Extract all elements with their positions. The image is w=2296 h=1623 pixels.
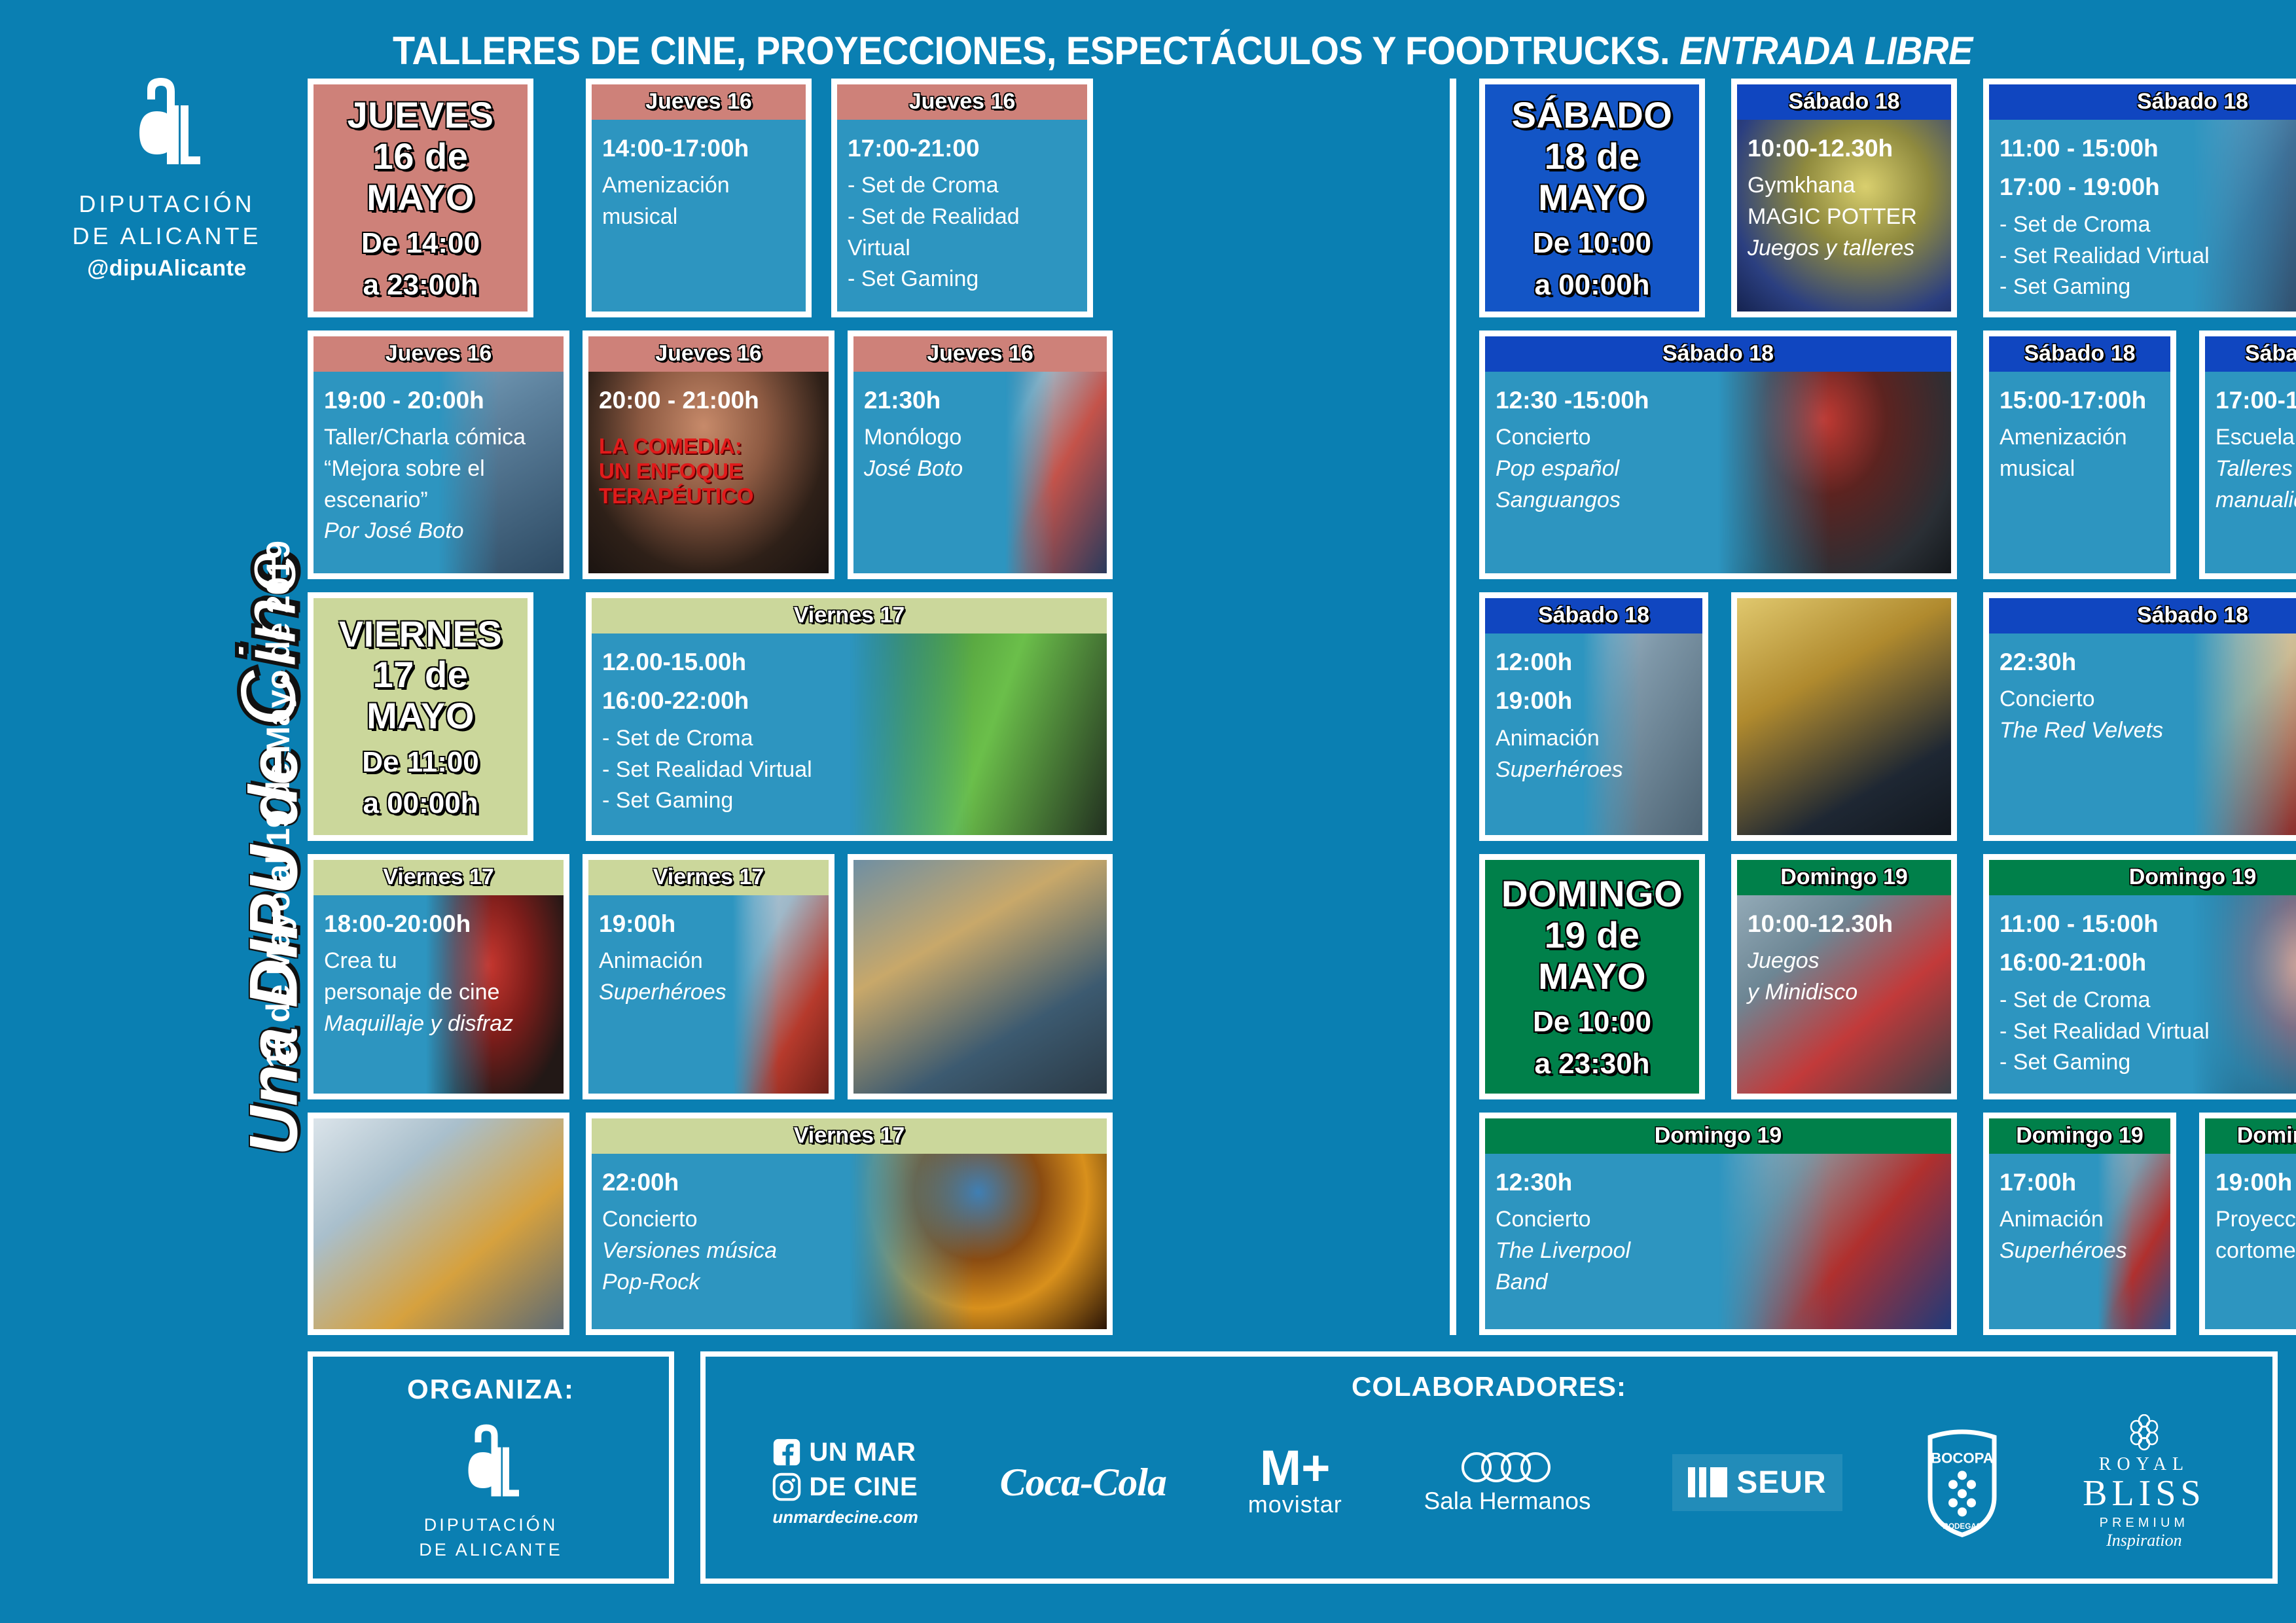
card-inner: Viernes 1718:00-20:00hCrea tupersonaje d…	[314, 860, 564, 1094]
schedule-card-thu-monologo[interactable]: Jueves 1621:30hMonólogoJosé Boto	[848, 330, 1113, 579]
card-subtitle: José Boto	[864, 454, 1096, 485]
card-body: 17:00hAnimaciónSuperhéroes	[1989, 1154, 2170, 1329]
card-line: MAGIC POTTER	[1748, 202, 1941, 233]
card-day-header: Sábado 18	[1989, 84, 2296, 120]
schedule-card-thu-sets[interactable]: Jueves 1617:00-21:00- Set de Croma- Set …	[831, 79, 1093, 317]
card-inner: Viernes 1712.00-15.00h16:00-22:00h- Set …	[592, 598, 1107, 835]
card-body: 12:00h19:00hAnimaciónSuperhéroes	[1485, 633, 1702, 835]
day-close-time: a 00:00h	[319, 787, 522, 819]
card-line: escenario”	[324, 485, 553, 516]
sponsor-movistar: M+ movistar	[1248, 1446, 1342, 1518]
card-day-header: Sábado 18	[1737, 84, 1951, 120]
card-subtitle: Por José Boto	[324, 516, 553, 547]
card-day-header: Sábado 18	[1989, 598, 2296, 633]
card-line: Monólogo	[864, 422, 1096, 454]
foodtruck-eating-photo	[853, 860, 1107, 1094]
card-body: 18:00-20:00hCrea tupersonaje de cineMaqu…	[314, 895, 564, 1094]
card-body: 10:00-12.30hGymkhanaMAGIC POTTERJuegos y…	[1737, 120, 1951, 312]
card-body: 11:00 - 15:00h17:00 - 19:00h- Set de Cro…	[1989, 120, 2296, 312]
card-inner: Viernes 1722:00hConciertoVersiones músic…	[592, 1118, 1107, 1329]
card-line: Virtual	[848, 233, 1077, 264]
facebook-icon	[772, 1438, 801, 1467]
page-title: TALLERES DE CINE, PROYECCIONES, ESPECTÁC…	[393, 31, 2097, 71]
card-time: 14:00-17:00h	[602, 132, 795, 166]
website-url[interactable]: unmardecine.com	[772, 1507, 918, 1527]
schedule-card-fri-foodtruck-photo[interactable]	[848, 854, 1113, 1099]
card-line: Animación	[599, 946, 818, 977]
card-line: cortometrajes	[2215, 1236, 2296, 1267]
card-line: - Set Realidad Virtual	[2000, 1016, 2296, 1048]
card-body: 21:30hMonólogoJosé Boto	[853, 372, 1107, 573]
dipu-alicante-logo-icon	[118, 72, 216, 170]
card-subtitle: Pop español	[1496, 454, 1941, 485]
card-time: 19:00h	[2215, 1166, 2296, 1200]
sponsor-sala-hermanos-label: Sala Hermanos	[1424, 1488, 1591, 1515]
poster-root: TALLERES DE CINE, PROYECCIONES, ESPECTÁC…	[0, 0, 2296, 1623]
sponsor-seur-label: SEUR	[1736, 1465, 1826, 1501]
page-title-main: TALLERES DE CINE, PROYECCIONES, ESPECTÁC…	[393, 29, 1670, 73]
organiza-label: ORGANIZA:	[313, 1374, 669, 1405]
card-line: Amenización	[602, 170, 795, 202]
card-day-header: Jueves 16	[314, 336, 564, 372]
card-body: 22:30hConciertoThe Red Velvets	[1989, 633, 2296, 835]
card-body: 19:00 - 20:00hTaller/Charla cómica“Mejor…	[314, 372, 564, 573]
card-inner: Jueves 1617:00-21:00- Set de Croma- Set …	[837, 84, 1087, 312]
card-line: musical	[602, 202, 795, 233]
schedule-card-sat-animacion[interactable]: Sábado 1812:00h19:00hAnimaciónSuperhéroe…	[1479, 592, 1708, 841]
foodtruck-yellow-photo	[1737, 598, 1951, 835]
facebook-label: UN MAR	[809, 1438, 916, 1467]
sponsor-coca-cola: Coca-Cola	[1000, 1460, 1166, 1505]
card-subtitle: Superhéroes	[1496, 755, 1692, 786]
day-name: JUEVES	[319, 95, 522, 136]
schedule-card-thu-amenizacion[interactable]: Jueves 1614:00-17:00hAmenizaciónmusical	[586, 79, 812, 317]
sponsor-seur: SEUR	[1672, 1454, 1842, 1511]
colaboradores-box: COLABORADORES: UN MAR	[700, 1351, 2278, 1584]
card-line: Gymkhana	[1748, 170, 1941, 202]
card-day-header: Domingo 19	[1989, 860, 2296, 895]
card-day-header: Viernes 17	[592, 598, 1107, 633]
schedule-card-fri-foodtruck-photo2[interactable]	[308, 1113, 569, 1335]
royal-bliss-line3: PREMIUM	[2083, 1516, 2206, 1531]
card-time: 22:30h	[2000, 645, 2296, 679]
card-line: - Set Gaming	[2000, 1047, 2296, 1079]
card-day-header: Jueves 16	[592, 84, 806, 120]
footer: ORGANIZA: DIPUTACIÓN DE ALICANTE COLABOR…	[308, 1351, 2278, 1584]
day-name: SÁBADO	[1490, 95, 1694, 136]
schedule-card-sat-redvelvets[interactable]: Sábado 1822:30hConciertoThe Red Velvets	[1983, 592, 2296, 841]
card-inner: SÁBADO18 de MAYODe 10:00a 00:00h	[1485, 84, 1699, 312]
card-line: - Set de Croma	[2000, 209, 2296, 241]
movistar-mark: M+	[1248, 1446, 1342, 1491]
card-subtitle-2: y Minidisco	[1748, 977, 1941, 1008]
card-body: 17:00-19:00hEscuela de CineTalleres dema…	[2205, 372, 2296, 573]
card-time: 17:00-19:00h	[2215, 383, 2296, 418]
card-line: Crea tu	[324, 946, 553, 977]
card-subtitle: Juegos y talleres	[1748, 233, 1941, 264]
card-line: - Set Gaming	[848, 264, 1077, 295]
card-line: Escuela de Cine	[2215, 422, 2296, 454]
card-highlight-block: LA COMEDIA:UN ENFOQUETERAPÉUTICO	[599, 434, 818, 508]
card-body: 19:00hAnimaciónSuperhéroes	[588, 895, 829, 1094]
card-inner: Jueves 1621:30hMonólogoJosé Boto	[853, 336, 1107, 573]
brand-name-line1: DIPUTACIÓN	[39, 188, 295, 221]
schedule-card-fri-maquillaje[interactable]: Viernes 1718:00-20:00hCrea tupersonaje d…	[308, 854, 569, 1099]
card-day-header: Jueves 16	[588, 336, 829, 372]
card-body: 12.00-15.00h16:00-22:00h- Set de Croma- …	[592, 633, 1107, 835]
day-date: 18 de MAYO	[1490, 136, 1694, 218]
card-subtitle: Talleres de	[2215, 454, 2296, 485]
card-line: Taller/Charla cómica	[324, 422, 553, 454]
card-day-header: Domingo 19	[1737, 860, 1951, 895]
schedule-card-thu-taller[interactable]: Jueves 1619:00 - 20:00hTaller/Charla cóm…	[308, 330, 569, 579]
card-line: personaje de cine	[324, 977, 553, 1008]
four-rings-icon	[1458, 1450, 1556, 1484]
card-body: 19:00hProyeccióncortometrajes	[2205, 1154, 2296, 1329]
day-title-block: SÁBADO18 de MAYODe 10:00a 00:00h	[1485, 95, 1699, 301]
column-divider	[1450, 79, 1456, 1335]
card-day-header: Sábado 18	[1989, 336, 2170, 372]
schedule-card-sat-escuela[interactable]: Sábado 1817:00-19:00hEscuela de CineTall…	[2199, 330, 2296, 579]
card-body: 17:00-21:00- Set de Croma- Set de Realid…	[837, 120, 1087, 312]
card-line: Concierto	[2000, 684, 2296, 715]
day-title-block: JUEVES16 de MAYODe 14:00a 23:00h	[314, 95, 528, 301]
sponsor-movistar-label: movistar	[1248, 1491, 1342, 1518]
schedule-card-fri-day[interactable]: VIERNES17 de MAYODe 11:00a 00:00h	[308, 592, 533, 841]
royal-bliss-line2: BLISS	[2083, 1475, 2206, 1512]
card-time: 17:00h	[2000, 1166, 2160, 1200]
dipu-alicante-logo-icon	[450, 1419, 532, 1501]
card-line: - Set de Croma	[848, 170, 1077, 202]
day-open-time: De 10:00	[1490, 1006, 1694, 1038]
card-inner: Sábado 1817:00-19:00hEscuela de CineTall…	[2205, 336, 2296, 573]
card-day-header: Domingo 19	[2205, 1118, 2296, 1154]
card-day-header: Domingo 19	[1989, 1118, 2170, 1154]
card-time-secondary: 17:00 - 19:00h	[2000, 170, 2296, 204]
card-inner: Viernes 1719:00hAnimaciónSuperhéroes	[588, 860, 829, 1094]
day-close-time: a 00:00h	[1490, 269, 1694, 301]
instagram-link[interactable]: DE CINE	[772, 1472, 918, 1502]
card-line: - Set de Croma	[2000, 985, 2296, 1016]
day-open-time: De 10:00	[1490, 227, 1694, 259]
card-time: 21:30h	[864, 383, 1096, 418]
brand-name-line2: DE ALICANTE	[39, 221, 295, 253]
card-time: 19:00 - 20:00h	[324, 383, 553, 418]
schedule-card-fri-animacion[interactable]: Viernes 1719:00hAnimaciónSuperhéroes	[583, 854, 834, 1099]
card-line: Animación	[1496, 723, 1692, 755]
schedule-card-sat-concierto[interactable]: Sábado 1812:30 -15:00hConciertoPop españ…	[1479, 330, 1957, 579]
sponsor-bocopa: BOCOPA BODEGAS	[1924, 1423, 2001, 1541]
card-inner: JUEVES16 de MAYODe 14:00a 23:00h	[314, 84, 528, 312]
day-open-time: De 14:00	[319, 227, 522, 259]
day-title-block: VIERNES17 de MAYODe 11:00a 00:00h	[314, 614, 528, 820]
instagram-label: DE CINE	[809, 1472, 918, 1502]
card-inner: Domingo 1910:00-12.30hJuegosy Minidisco	[1737, 860, 1951, 1094]
card-inner: Domingo 1911:00 - 15:00h16:00-21:00h- Se…	[1989, 860, 2296, 1094]
card-inner: Sábado 1822:30hConciertoThe Red Velvets	[1989, 598, 2296, 835]
card-inner	[1737, 598, 1951, 835]
schedule-card-sat-foodtruck-photo[interactable]	[1731, 592, 1957, 841]
card-line: Concierto	[1496, 1204, 1941, 1236]
day-date: 19 de MAYO	[1490, 915, 1694, 997]
card-line: - Set Realidad Virtual	[602, 755, 1096, 786]
card-subtitle: The Liverpool	[1496, 1236, 1941, 1267]
day-open-time: De 11:00	[319, 746, 522, 778]
schedule-card-sun-liverpool[interactable]: Domingo 1912:30hConciertoThe LiverpoolBa…	[1479, 1113, 1957, 1335]
royal-bliss-line4: Inspiration	[2083, 1531, 2206, 1550]
card-time: 12:00h	[1496, 645, 1692, 679]
schedule-card-sun-animacion[interactable]: Domingo 1917:00hAnimaciónSuperhéroes	[1983, 1113, 2176, 1335]
card-line: Concierto	[602, 1204, 1096, 1236]
card-inner: Sábado 1811:00 - 15:00h17:00 - 19:00h- S…	[1989, 84, 2296, 312]
day-close-time: a 23:30h	[1490, 1048, 1694, 1080]
schedule-card-sun-sets[interactable]: Domingo 1911:00 - 15:00h16:00-21:00h- Se…	[1983, 854, 2296, 1099]
card-inner	[314, 1118, 564, 1329]
card-body: 15:00-17:00hAmenizaciónmusical	[1989, 372, 2170, 573]
sponsor-coca-cola-label: Coca-Cola	[1000, 1461, 1166, 1504]
card-highlight-line: UN ENFOQUE	[599, 459, 818, 484]
card-subtitle: Superhéroes	[2000, 1236, 2160, 1267]
card-body: 12:30 -15:00hConciertoPop españolSanguan…	[1485, 372, 1951, 573]
card-inner: Jueves 1619:00 - 20:00hTaller/Charla cóm…	[314, 336, 564, 573]
seur-bars-icon	[1688, 1467, 1727, 1497]
card-body: 20:00 - 21:00hLA COMEDIA:UN ENFOQUETERAP…	[588, 372, 829, 573]
bliss-flower-icon	[2125, 1414, 2164, 1451]
organiza-name-line2: DE ALICANTE	[313, 1538, 669, 1563]
card-subtitle: Versiones música	[602, 1236, 1096, 1267]
card-line: - Set Gaming	[602, 785, 1096, 817]
card-time: 10:00-12.30h	[1748, 132, 1941, 166]
vertical-date-range: 16 de Mayo al 19 de Mayo de 2019	[259, 395, 297, 1213]
card-line: Animación	[2000, 1204, 2160, 1236]
schedule-card-sat-sets[interactable]: Sábado 1811:00 - 15:00h17:00 - 19:00h- S…	[1983, 79, 2296, 317]
card-day-header: Sábado 18	[2205, 336, 2296, 372]
card-line: - Set Gaming	[2000, 272, 2296, 303]
bocopa-shield-icon: BOCOPA BODEGAS	[1924, 1423, 2001, 1538]
page-title-emphasis: ENTRADA LIBRE	[1670, 29, 1973, 73]
card-body: 22:00hConciertoVersiones músicaPop-Rock	[592, 1154, 1107, 1329]
card-time: 22:00h	[602, 1166, 1096, 1200]
card-time: 12:30 -15:00h	[1496, 383, 1941, 418]
card-day-header: Viernes 17	[314, 860, 564, 895]
day-date: 17 de MAYO	[319, 654, 522, 736]
schedule-card-sat-day[interactable]: SÁBADO18 de MAYODe 10:00a 00:00h	[1479, 79, 1705, 317]
card-day-header: Sábado 18	[1485, 598, 1702, 633]
day-close-time: a 23:00h	[319, 269, 522, 301]
royal-bliss-line1: ROYAL	[2083, 1454, 2206, 1475]
card-subtitle-2: Sanguangos	[1496, 485, 1941, 516]
card-body: 10:00-12.30hJuegosy Minidisco	[1737, 895, 1951, 1094]
card-inner: Domingo 1912:30hConciertoThe LiverpoolBa…	[1485, 1118, 1951, 1329]
card-time: 18:00-20:00h	[324, 907, 553, 941]
card-inner: Sábado 1812:00h19:00hAnimaciónSuperhéroe…	[1485, 598, 1702, 835]
card-inner: Sábado 1815:00-17:00hAmenizaciónmusical	[1989, 336, 2170, 573]
card-inner: Domingo 1919:00hProyeccióncortometrajes	[2205, 1118, 2296, 1329]
card-inner: Domingo 1917:00hAnimaciónSuperhéroes	[1989, 1118, 2170, 1329]
card-line: Concierto	[1496, 422, 1941, 454]
brand-handle: @dipuAlicante	[39, 256, 295, 281]
card-time: 15:00-17:00h	[2000, 383, 2160, 418]
schedule-card-sun-proyeccion[interactable]: Domingo 1919:00hProyeccióncortometrajes	[2199, 1113, 2296, 1335]
card-time: 20:00 - 21:00h	[599, 383, 818, 418]
card-day-header: Viernes 17	[592, 1118, 1107, 1154]
card-subtitle: Maquillaje y disfraz	[324, 1008, 553, 1040]
card-subtitle-2: manualidades	[2215, 485, 2296, 516]
card-inner: Sábado 1812:30 -15:00hConciertoPop españ…	[1485, 336, 1951, 573]
svg-text:BODEGAS: BODEGAS	[1943, 1522, 1982, 1531]
card-inner: Sábado 1810:00-12.30hGymkhanaMAGIC POTTE…	[1737, 84, 1951, 312]
day-name: VIERNES	[319, 614, 522, 655]
card-day-header: Jueves 16	[837, 84, 1087, 120]
schedule-card-thu-day[interactable]: JUEVES16 de MAYODe 14:00a 23:00h	[308, 79, 533, 317]
foodtruck-stand-photo	[314, 1118, 564, 1329]
card-inner: VIERNES17 de MAYODe 11:00a 00:00h	[314, 598, 528, 835]
card-time-secondary: 16:00-22:00h	[602, 684, 1096, 718]
sponsor-royal-bliss: ROYAL BLISS PREMIUM Inspiration	[2083, 1414, 2206, 1550]
card-time: 11:00 - 15:00h	[2000, 132, 2296, 166]
organiza-name-line1: DIPUTACIÓN	[313, 1513, 669, 1538]
card-time-secondary: 19:00h	[1496, 684, 1692, 718]
card-line: - Set de Croma	[602, 723, 1096, 755]
card-time: 12.00-15.00h	[602, 645, 1096, 679]
card-day-header: Domingo 19	[1485, 1118, 1951, 1154]
card-day-header: Viernes 17	[588, 860, 829, 895]
card-subtitle-2: Band	[1496, 1267, 1941, 1298]
card-line: “Mejora sobre el	[324, 454, 553, 485]
card-line: musical	[2000, 454, 2160, 485]
card-highlight-line: TERAPÉUTICO	[599, 484, 818, 508]
card-highlight-line: LA COMEDIA:	[599, 434, 818, 459]
card-subtitle: The Red Velvets	[2000, 715, 2296, 747]
card-time: 19:00h	[599, 907, 818, 941]
schedule-grid: JUEVES16 de MAYODe 14:00a 23:00hJueves 1…	[308, 79, 2271, 1335]
card-line: - Set Realidad Virtual	[2000, 241, 2296, 272]
day-title-block: DOMINGO19 de MAYODe 10:00a 23:30h	[1485, 874, 1699, 1080]
card-subtitle: Superhéroes	[599, 977, 818, 1008]
card-inner	[853, 860, 1107, 1094]
day-date: 16 de MAYO	[319, 136, 522, 218]
schedule-card-fri-concierto[interactable]: Viernes 1722:00hConciertoVersiones músic…	[586, 1113, 1113, 1335]
card-day-header: Jueves 16	[853, 336, 1107, 372]
card-time: 17:00-21:00	[848, 132, 1077, 166]
card-time: 11:00 - 15:00h	[2000, 907, 2296, 941]
card-inner: DOMINGO19 de MAYODe 10:00a 23:30h	[1485, 860, 1699, 1094]
brand-block: DIPUTACIÓN DE ALICANTE @dipuAlicante	[39, 72, 295, 281]
facebook-link[interactable]: UN MAR	[772, 1438, 918, 1467]
card-time-secondary: 16:00-21:00h	[2000, 946, 2296, 980]
card-inner: Jueves 1614:00-17:00hAmenizaciónmusical	[592, 84, 806, 312]
card-body: 11:00 - 15:00h16:00-21:00h- Set de Croma…	[1989, 895, 2296, 1094]
schedule-card-fri-sets[interactable]: Viernes 1712.00-15.00h16:00-22:00h- Set …	[586, 592, 1113, 841]
day-name: DOMINGO	[1490, 874, 1694, 915]
colaboradores-label: COLABORADORES:	[706, 1371, 2272, 1402]
schedule-card-sun-juegos[interactable]: Domingo 1910:00-12.30hJuegosy Minidisco	[1731, 854, 1957, 1099]
schedule-card-sat-gymkhana[interactable]: Sábado 1810:00-12.30hGymkhanaMAGIC POTTE…	[1731, 79, 1957, 317]
card-body: 14:00-17:00hAmenizaciónmusical	[592, 120, 806, 312]
card-line: Amenización	[2000, 422, 2160, 454]
schedule-card-sat-amenizacion[interactable]: Sábado 1815:00-17:00hAmenizaciónmusical	[1983, 330, 2176, 579]
card-time: 10:00-12.30h	[1748, 907, 1941, 941]
card-inner: Jueves 1620:00 - 21:00hLA COMEDIA:UN ENF…	[588, 336, 829, 573]
schedule-card-thu-comedia[interactable]: Jueves 1620:00 - 21:00hLA COMEDIA:UN ENF…	[583, 330, 834, 579]
sponsor-sala-hermanos: Sala Hermanos	[1424, 1450, 1591, 1515]
schedule-card-sun-day[interactable]: DOMINGO19 de MAYODe 10:00a 23:30h	[1479, 854, 1705, 1099]
organiza-box: ORGANIZA: DIPUTACIÓN DE ALICANTE	[308, 1351, 674, 1584]
card-day-header: Sábado 18	[1485, 336, 1951, 372]
card-line: - Set de Realidad	[848, 202, 1077, 233]
svg-text:BOCOPA: BOCOPA	[1931, 1450, 1994, 1467]
card-time: 12:30h	[1496, 1166, 1941, 1200]
card-body: 12:30hConciertoThe LiverpoolBand	[1485, 1154, 1951, 1329]
card-line: Proyección	[2215, 1204, 2296, 1236]
social-links: UN MAR DE CINE unmardecine.com	[772, 1438, 918, 1527]
card-subtitle-2: Pop-Rock	[602, 1267, 1096, 1298]
card-subtitle: Juegos	[1748, 946, 1941, 977]
instagram-icon	[772, 1472, 801, 1501]
